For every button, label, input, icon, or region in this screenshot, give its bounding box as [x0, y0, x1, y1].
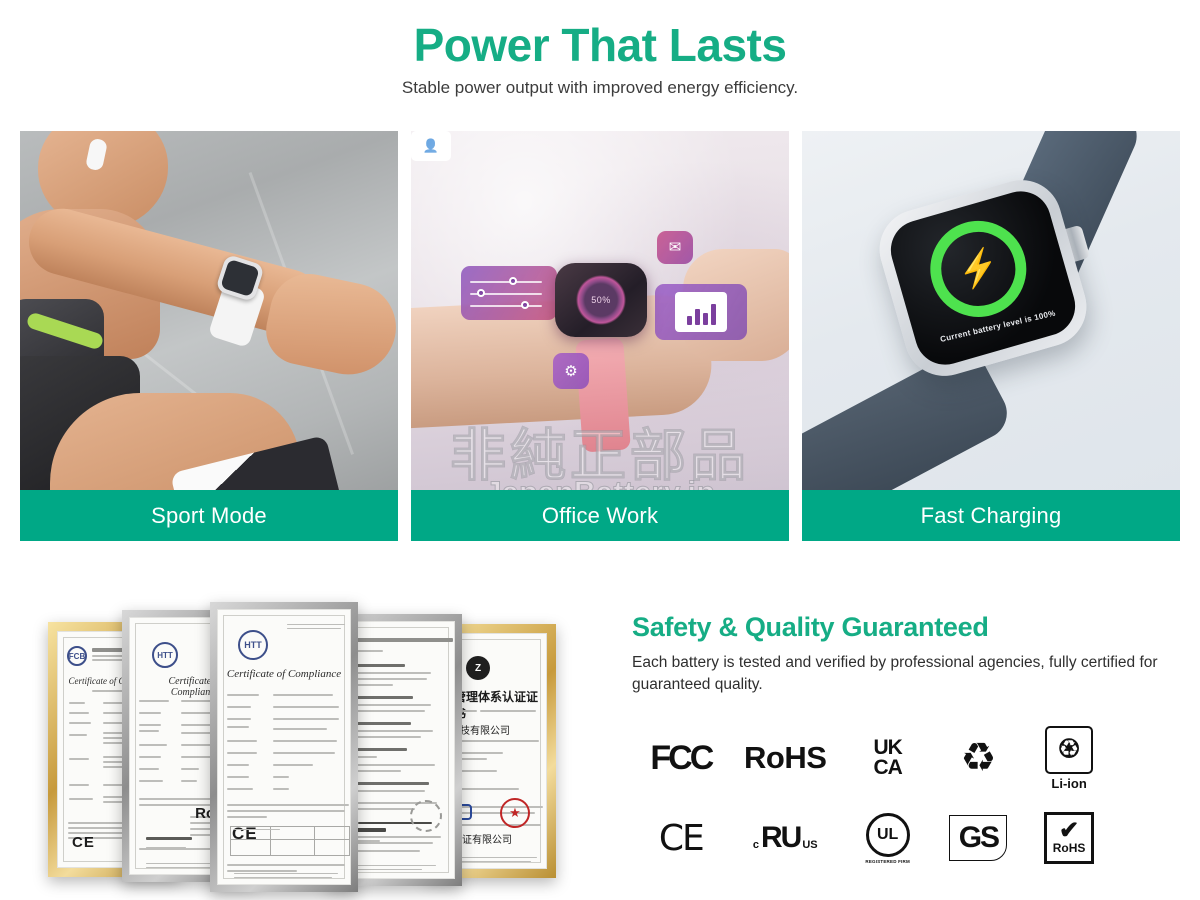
charging-ring: ⚡: [919, 210, 1038, 329]
certification-logo-grid: FCC RoHS UK CA ♻ ♼ Li-ion: [634, 718, 1114, 878]
ul-recognized-icon: c RU US: [728, 821, 843, 855]
floating-settings-card: ⚙: [553, 353, 589, 389]
page-subtitle: Stable power output with improved energy…: [0, 78, 1200, 98]
certification-logo-row-1: FCC RoHS UK CA ♻ ♼ Li-ion: [634, 718, 1114, 798]
feature-card-caption: Office Work: [411, 490, 789, 541]
li-ion-recycle-icon: ♼ Li-ion: [1024, 726, 1114, 791]
gs-icon: GS: [933, 815, 1025, 861]
certificate-logo: HTT: [152, 642, 178, 668]
certificate-logo: Z: [466, 656, 490, 680]
watch-battery-value: 50%: [591, 295, 611, 305]
office-work-photo: ✉ 👤 ⚙ 50%: [411, 131, 789, 490]
page-title: Power That Lasts: [0, 18, 1200, 72]
certificate-seal: [410, 800, 442, 832]
fast-charging-photo: ⚡ Current battery level is 100%: [802, 131, 1180, 490]
lightning-bolt-icon: ⚡: [953, 247, 1003, 291]
gear-icon: ⚙: [564, 364, 577, 379]
rohs-check-icon: ✔ RoHS: [1024, 812, 1114, 864]
floating-chart-card: [655, 284, 747, 340]
floating-mail-card: ✉: [657, 231, 693, 264]
mail-icon: ✉: [669, 240, 682, 255]
sport-mode-photo: [20, 131, 398, 490]
feature-card-caption: Fast Charging: [802, 490, 1180, 541]
certificate-logo: FCB: [67, 646, 87, 666]
feature-card-fast-charging[interactable]: ⚡ Current battery level is 100% Fast Cha…: [802, 131, 1180, 541]
feature-card-caption: Sport Mode: [20, 490, 398, 541]
fcc-icon: FCC: [634, 739, 728, 778]
marketing-page: Power That Lasts Stable power output wit…: [0, 0, 1200, 900]
pink-smartwatch: 50%: [555, 263, 647, 337]
red-seal-stamp: ★: [500, 798, 530, 828]
safety-title: Safety & Quality Guaranteed: [632, 612, 1188, 643]
ul-registered-icon: UL REGISTERED FIRM: [843, 813, 933, 864]
safety-section: Safety & Quality Guaranteed Each battery…: [632, 612, 1188, 696]
ce-mark: CE: [232, 824, 258, 844]
feature-card-office-work[interactable]: ✉ 👤 ⚙ 50%: [411, 131, 789, 541]
ukca-icon: UK CA: [843, 738, 933, 777]
feature-card-list: Sport Mode ✉ 👤: [20, 131, 1180, 541]
safety-body: Each battery is tested and verified by p…: [632, 652, 1188, 696]
rohs-icon: RoHS: [728, 740, 843, 776]
certificate-item[interactable]: HTT Certificate of Compliance: [210, 602, 358, 892]
certificate-title: 管理体系认证证书: [454, 688, 546, 722]
certificate-collage: FCB Certificate of Conformity: [14, 598, 614, 888]
floating-sliders-card: [461, 266, 557, 320]
certificate-logo: HTT: [238, 630, 268, 660]
recycle-icon: ♻: [933, 738, 1025, 778]
ce-mark: CE: [72, 834, 95, 851]
feature-card-sport-mode[interactable]: Sport Mode: [20, 131, 398, 541]
certificate-title: Certificate of Compliance: [218, 668, 350, 680]
ce-icon: CE: [634, 818, 728, 859]
certification-logo-row-2: CE c RU US UL REGISTERED FIRM GS: [634, 798, 1114, 878]
